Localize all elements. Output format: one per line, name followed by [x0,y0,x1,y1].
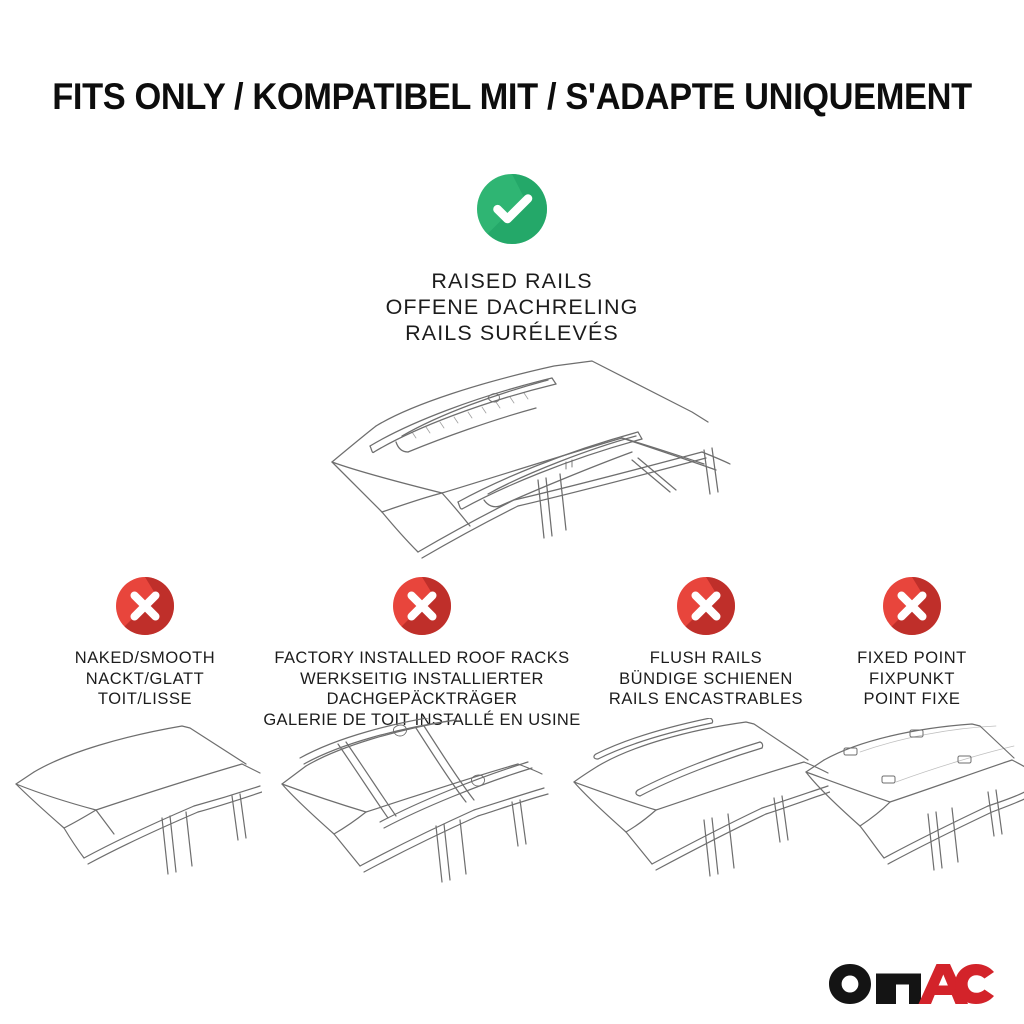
caption-line-de-1: WERKSEITIG INSTALLIERTER [262,669,582,690]
car-roof-factory-rack-illustration [268,718,550,890]
x-circle-icon [116,577,174,635]
caption-line-fr: POINT FIXE [822,689,1002,710]
car-roof-flush-rails-illustration [562,718,830,890]
caption-line-en: FIXED POINT [822,648,1002,669]
caption-line-en: NAKED/SMOOTH [20,648,270,669]
car-roof-fixed-point-illustration [800,718,1024,896]
caption-line-de: BÜNDIGE SCHIENEN [592,669,820,690]
car-roof-naked-illustration [4,718,262,890]
omac-logo [826,960,998,1008]
incompatible-illustrations-row [0,718,1024,898]
compatible-line-en: RAISED RAILS [0,268,1024,294]
car-roof-raised-rails-illustration [292,352,732,564]
caption-line-de: FIXPUNKT [822,669,1002,690]
incompatible-option-naked: NAKED/SMOOTH NACKT/GLATT TOIT/LISSE [20,577,270,710]
compatible-option: RAISED RAILS OFFENE DACHRELING RAILS SUR… [0,174,1024,346]
x-circle-icon [393,577,451,635]
incompatible-option-flush-rails: FLUSH RAILS BÜNDIGE SCHIENEN RAILS ENCAS… [592,577,820,710]
caption-line-en: FACTORY INSTALLED ROOF RACKS [262,648,582,669]
caption-line-en: FLUSH RAILS [592,648,820,669]
fitment-info-graphic: FITS ONLY / KOMPATIBEL MIT / S'ADAPTE UN… [0,0,1024,1024]
caption-line-fr: TOIT/LISSE [20,689,270,710]
incompatible-options-row: NAKED/SMOOTH NACKT/GLATT TOIT/LISSE FACT… [0,577,1024,727]
check-circle-icon [477,174,547,244]
incompatible-option-fixed-point: FIXED POINT FIXPUNKT POINT FIXE [822,577,1002,710]
logo-text-om [829,964,933,1004]
compatible-caption: RAISED RAILS OFFENE DACHRELING RAILS SUR… [0,268,1024,346]
x-circle-icon [677,577,735,635]
caption-line-de-2: DACHGEPÄCKTRÄGER [262,689,582,710]
incompatible-caption: FIXED POINT FIXPUNKT POINT FIXE [822,648,1002,710]
compatible-line-de: OFFENE DACHRELING [0,294,1024,320]
page-title: FITS ONLY / KOMPATIBEL MIT / S'ADAPTE UN… [36,76,988,118]
incompatible-caption: FLUSH RAILS BÜNDIGE SCHIENEN RAILS ENCAS… [592,648,820,710]
caption-line-de: NACKT/GLATT [20,669,270,690]
x-circle-icon [883,577,941,635]
caption-line-fr: RAILS ENCASTRABLES [592,689,820,710]
compatible-line-fr: RAILS SURÉLEVÉS [0,320,1024,346]
incompatible-option-factory-rack: FACTORY INSTALLED ROOF RACKS WERKSEITIG … [262,577,582,730]
incompatible-caption: NAKED/SMOOTH NACKT/GLATT TOIT/LISSE [20,648,270,710]
